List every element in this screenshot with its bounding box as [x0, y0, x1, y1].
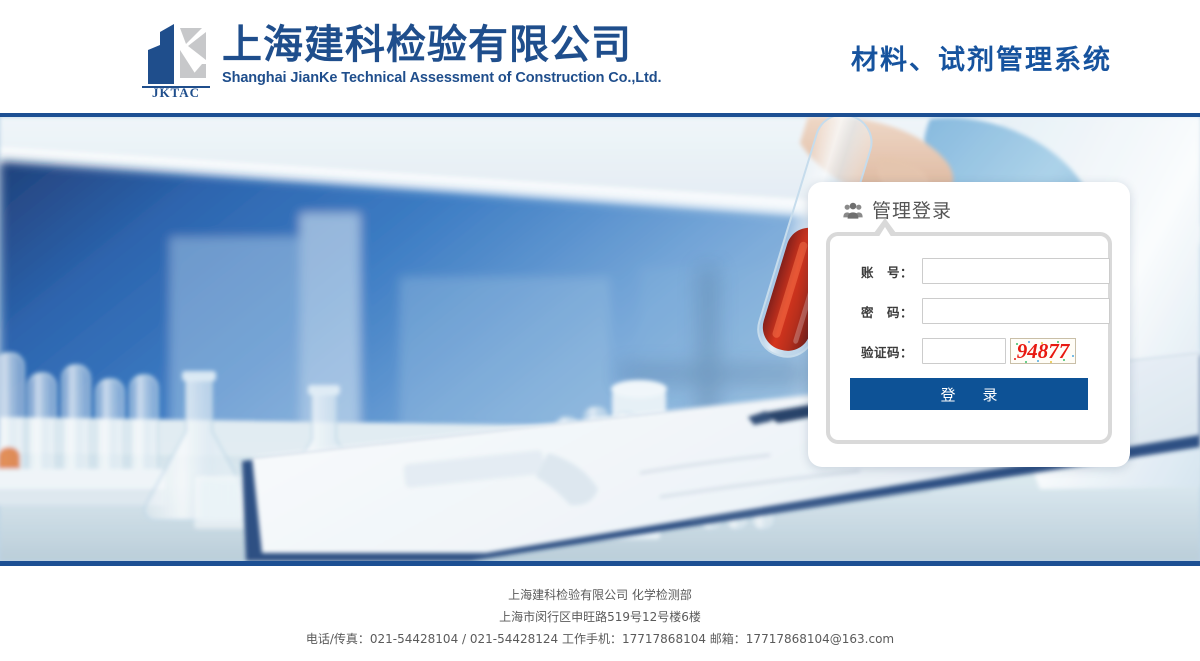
password-label: 密 码：	[850, 302, 922, 321]
footer-line-contact: 电话/传真：021-54428104 / 021-54428124 工作手机：1…	[0, 628, 1200, 650]
footer-line-address: 上海市闵行区申旺路519号12号楼6楼	[0, 606, 1200, 628]
captcha-code-text: 94877	[1011, 339, 1075, 363]
hero-banner: 管理登录 账 号： 密 码： 验证码：	[0, 113, 1200, 566]
company-name-en: Shanghai JianKe Technical Assessment of …	[222, 69, 661, 87]
login-card-header: 管理登录	[826, 196, 1112, 230]
fieldset-notch-inner	[878, 227, 892, 238]
login-fieldset: 账 号： 密 码： 验证码：	[826, 232, 1112, 444]
captcha-label: 验证码：	[850, 342, 922, 361]
users-group-icon	[843, 202, 863, 220]
password-input[interactable]	[922, 298, 1110, 324]
captcha-input[interactable]	[922, 338, 1006, 364]
login-submit-button[interactable]: 登 录	[850, 378, 1088, 410]
login-card: 管理登录 账 号： 密 码： 验证码：	[808, 182, 1130, 467]
svg-text:JKTAC: JKTAC	[152, 85, 200, 98]
footer-line-company: 上海建科检验有限公司 化学检测部	[0, 584, 1200, 606]
page-footer: 上海建科检验有限公司 化学检测部 上海市闵行区申旺路519号12号楼6楼 电话/…	[0, 566, 1200, 657]
password-row: 密 码：	[850, 298, 1088, 324]
username-row: 账 号：	[850, 258, 1088, 284]
username-input[interactable]	[922, 258, 1110, 284]
company-name-cn: 上海建科检验有限公司	[222, 22, 661, 68]
brand-text: 上海建科检验有限公司 Shanghai JianKe Technical Ass…	[222, 16, 661, 87]
username-label: 账 号：	[850, 262, 922, 281]
page-header: JKTAC 上海建科检验有限公司 Shanghai JianKe Technic…	[0, 0, 1200, 113]
brand-block: JKTAC 上海建科检验有限公司 Shanghai JianKe Technic…	[140, 16, 661, 98]
jktac-building-logo-icon: JKTAC	[140, 20, 212, 98]
captcha-row: 验证码：	[850, 338, 1088, 364]
system-title: 材料、试剂管理系统	[851, 44, 1112, 78]
captcha-image[interactable]: 94877	[1010, 338, 1076, 364]
